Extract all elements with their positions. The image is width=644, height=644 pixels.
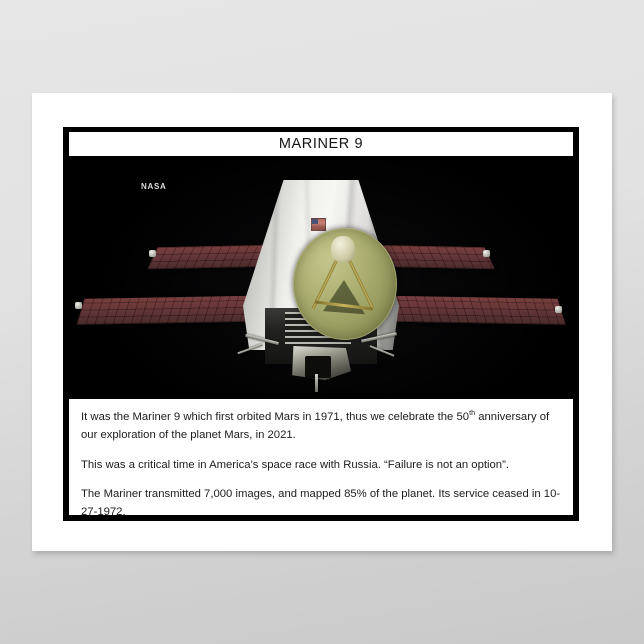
caption-p1-lead: It was the Mariner 9 which first orbited… (81, 411, 469, 423)
caption-block: It was the Mariner 9 which first orbited… (69, 399, 573, 515)
dish-feed-horn (331, 236, 355, 262)
panel-node-right-upper (483, 250, 490, 257)
nasa-watermark: NASA (141, 182, 166, 191)
flag-canton (312, 219, 318, 224)
title-bar: MARINER 9 (69, 132, 573, 156)
panel-tip-right (555, 306, 562, 313)
poster-sheet: MARINER 9 NASA (32, 93, 612, 551)
panel-node-left-upper (149, 250, 156, 257)
spacecraft-photo: NASA (69, 160, 573, 393)
lower-mast (315, 374, 318, 392)
camera-aperture (305, 356, 331, 378)
us-flag-decal (311, 218, 326, 231)
caption-paragraph-3: The Mariner transmitted 7,000 images, an… (81, 485, 561, 522)
poster-black-frame: MARINER 9 NASA (63, 127, 579, 521)
caption-paragraph-1: It was the Mariner 9 which first orbited… (81, 408, 561, 445)
page-title: MARINER 9 (279, 136, 363, 152)
caption-paragraph-2: This was a critical time in America’s sp… (81, 456, 561, 474)
high-gain-dish-antenna (293, 228, 397, 340)
panel-tip-left (75, 302, 82, 309)
